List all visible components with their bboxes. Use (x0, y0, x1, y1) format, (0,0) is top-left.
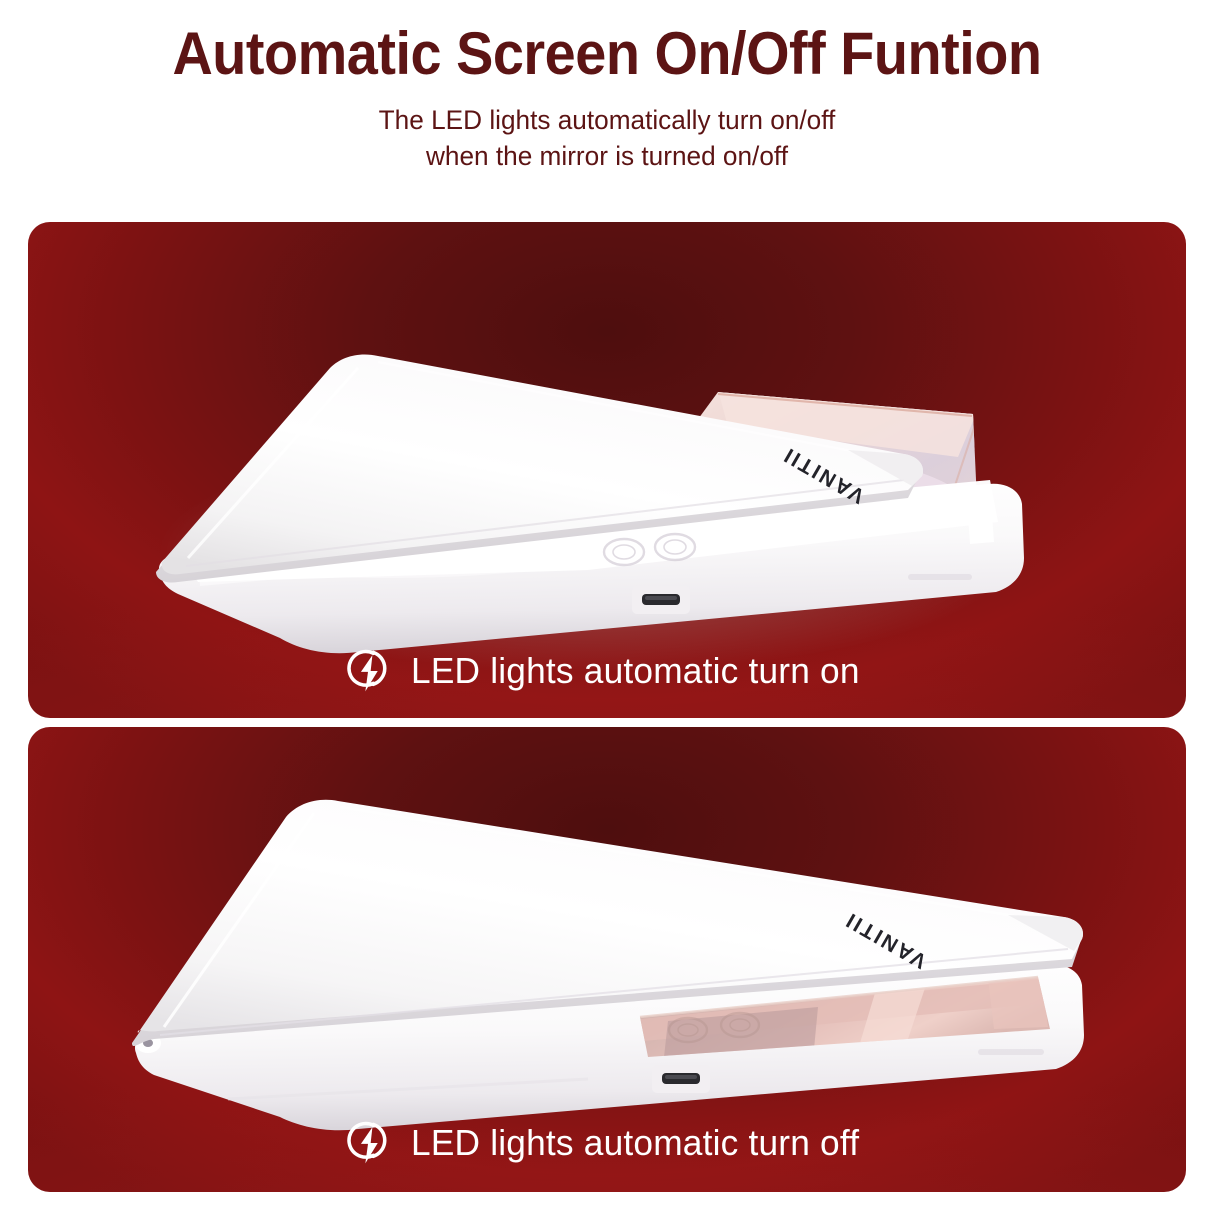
page-title: Automatic Screen On/Off Funtion (42, 22, 1171, 85)
caption-led-off-text: LED lights automatic turn off (411, 1122, 859, 1164)
caption-led-on: LED lights automatic turn on (28, 648, 1186, 694)
page-subtitle: The LED lights automatically turn on/off… (18, 103, 1196, 174)
panel-led-off: VANITII LED lights automatic turn off (28, 727, 1186, 1192)
caption-led-off: LED lights automatic turn off (28, 1120, 1186, 1166)
power-bolt-icon (345, 648, 391, 694)
subtitle-line-1: The LED lights automatically turn on/off (18, 103, 1196, 139)
power-bolt-icon (345, 1120, 391, 1166)
mirror-open-illustration: VANITII (28, 222, 1186, 718)
caption-led-on-text: LED lights automatic turn on (411, 650, 860, 692)
page-header: Automatic Screen On/Off Funtion The LED … (0, 0, 1214, 174)
panel-led-on: VANITII LED lights automatic turn on (28, 222, 1186, 718)
subtitle-line-2: when the mirror is turned on/off (18, 139, 1196, 175)
micro-usb-port (632, 586, 690, 614)
micro-usb-port (652, 1065, 710, 1093)
